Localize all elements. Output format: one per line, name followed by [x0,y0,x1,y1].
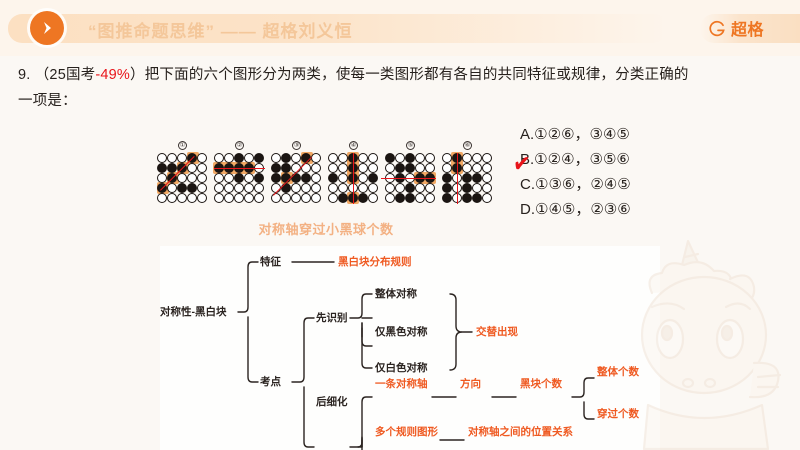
question-source-suffix: ） [130,67,145,83]
slide-root: “图推命题思维” —— 超格刘义恒 超格 9. （25国考-49%）把下面的六个… [0,0,800,450]
mindmap-node-jiaoti-chuxian: 交替出现 [476,326,518,338]
answer-options: ✔ A.①②⑥，③④⑤ B.①②④，③⑤⑥ C.①③⑥，②④⑤ D.①④⑤，②③… [520,122,631,222]
mindmap-node-chuanguo-geshu: 穿过个数 [597,408,639,420]
mindmap-node-zhengti-duichen: 整体对称 [375,288,417,300]
mindmap-connectors [160,246,660,450]
header-title: “图推命题思维” —— 超格刘义恒 [88,17,352,42]
slide-header: “图推命题思维” —— 超格刘义恒 超格 [0,0,800,56]
figure-6-label: ⑥ [441,140,494,150]
figure-6: ⑥ [441,142,494,214]
question-source-prefix: （25国考 [35,67,96,83]
chevron-right-icon[interactable] [30,11,64,45]
option-b[interactable]: B.①②④，③⑤⑥ [520,147,631,172]
figure-5-label: ⑤ [384,140,437,150]
figure-2: ② [213,142,266,214]
figure-3-label: ③ [270,140,323,150]
figure-row: ① [156,142,496,214]
figure-1: ① [156,142,209,214]
figure-3: ③ [270,142,323,214]
mindmap: 对称性-黑白块 特征 黑白块分布规则 考点 先识别 整体对称 仅黑色对称 仅白色… [160,246,660,450]
mindmap-node-xianshibie: 先识别 [316,312,348,324]
mindmap-node-heikuai-geshu: 黑块个数 [520,378,562,390]
figure-5-grid [385,153,436,204]
mindmap-node-fangxiang: 方向 [460,378,481,390]
mindmap-node-heibaikuai-fenbu-guize: 黑白块分布规则 [338,256,412,268]
mindmap-node-weizhi-guanxi: 对称轴之间的位置关系 [468,426,573,438]
question-number: 9. [18,67,31,83]
figure-6-grid [442,153,493,204]
figure-3-grid [271,153,322,204]
brand-name: 超格 [731,16,764,40]
figure-4-label: ④ [327,140,380,150]
question-line1: 把下面的六个图形分为两类，使每一类图形都有各自的共同特征或规律，分类正确的 [145,67,689,83]
option-c[interactable]: C.①③⑥，②④⑤ [520,172,631,197]
figure-caption: 对称轴穿过小黑球个数 [156,219,496,238]
mindmap-node-zhengti-geshu: 整体个数 [597,366,639,378]
mindmap-node-houxihua: 后细化 [316,396,348,408]
question-text: 9. （25国考-49%）把下面的六个图形分为两类，使每一类图形都有各自的共同特… [18,62,782,114]
figure-6-symmetry-axis [457,153,458,204]
option-a[interactable]: A.①②⑥，③④⑤ [520,122,631,147]
g-logo-icon [709,20,726,37]
mindmap-node-yitiao-duichenzhou: 一条对称轴 [375,378,428,390]
figure-4: ④ [327,142,380,214]
mindmap-node-kaodian: 考点 [260,376,281,388]
figure-1-label: ① [156,140,209,150]
figure-2-symmetry-axis [214,168,265,169]
question-line2: 一项是： [18,93,77,109]
mindmap-node-jinheise-duichen: 仅黑色对称 [375,326,428,338]
figure-5-symmetry-axis [381,178,436,179]
mindmap-node-tezheng: 特征 [260,256,281,268]
correct-answer-checkmark: ✔ [512,151,531,179]
figure-5: ⑤ [384,142,437,214]
figure-4-grid [328,153,379,204]
mindmap-root: 对称性-黑白块 [160,306,227,318]
brand: 超格 [709,16,764,40]
mindmap-node-jinbaise-duichen: 仅白色对称 [375,362,428,374]
figure-2-grid [214,153,265,204]
figure-1-grid [157,153,208,204]
figure-4-symmetry-axis [353,153,354,204]
option-d[interactable]: D.①④⑤，②③⑥ [520,197,631,222]
mindmap-node-duoge-guize-tuxing: 多个规则图形 [375,426,438,438]
figure-2-label: ② [213,140,266,150]
question-accuracy: -49% [95,67,130,83]
